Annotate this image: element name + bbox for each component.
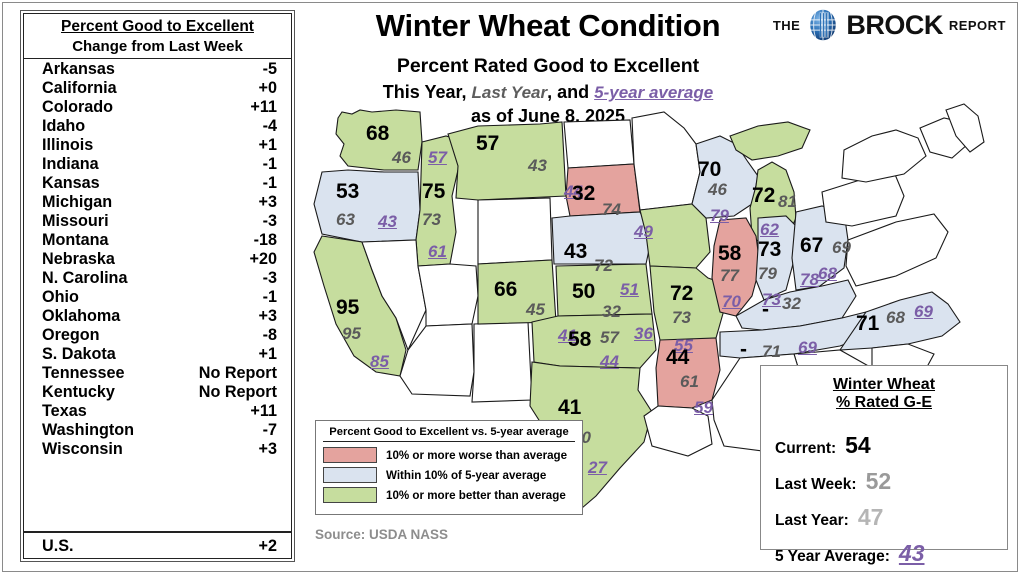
logo-the: THE [773,18,801,33]
state-shape-minnesota [632,112,700,210]
table-row-change: +1 [189,137,277,153]
table-row-state: Ohio [42,289,79,305]
table-row-state: California [42,80,117,96]
table-row-change: +1 [189,346,277,362]
table-row-state: Colorado [42,99,113,115]
table-row: Illinois+1 [24,136,291,155]
table-row-state: Indiana [42,156,99,172]
table-row: Oklahoma+3 [24,307,291,326]
table-row-change: +11 [189,403,277,419]
legend-label: Within 10% of 5-year average [386,469,546,482]
table-row: Missouri-3 [24,212,291,231]
table-row-change: +3 [189,441,277,457]
state-shape-new-mexico [472,322,532,402]
map-legend: Percent Good to Excellent vs. 5-year ave… [315,420,583,515]
table-row-state: Michigan [42,194,112,210]
map-legend-item: Within 10% of 5-year average [323,467,575,483]
table-row-change: No Report [189,384,277,400]
table-row-change: -1 [189,156,277,172]
series-this-year: This Year, [383,82,472,102]
legend-swatch [323,467,377,483]
table-row-change: +20 [189,251,277,267]
summary-label: Last Week: [775,476,857,494]
state-change-table: Percent Good to Excellent Change from La… [20,10,295,562]
state-shape-kansas [556,264,652,316]
table-row: N. Carolina-3 [24,269,291,288]
table-body: Arkansas-5California+0Colorado+11Idaho-4… [24,59,291,531]
table-row-change: +3 [189,308,277,324]
summary-row: Current:54 [775,432,993,459]
summary-row: 5 Year Average:43 [775,540,993,567]
table-row: Wisconsin+3 [24,440,291,459]
state-shape-illinois [712,218,760,316]
table-row-state: Montana [42,232,109,248]
summary-value: 47 [858,504,884,531]
series-conjunction: , and [547,82,594,102]
state-shape-nebraska [552,212,652,264]
table-row: TennesseeNo Report [24,364,291,383]
table-row-change: -7 [189,422,277,438]
table-row-change: -1 [189,175,277,191]
table-row-change: +11 [189,99,277,115]
table-row: Oregon-8 [24,326,291,345]
state-shape-michigan-upper-peninsula [730,122,810,160]
legend-swatch [323,487,377,503]
table-row-state: Washington [42,422,134,438]
page-title: Winter Wheat Condition [322,8,774,44]
summary-row: Last Year:47 [775,504,993,531]
logo-report: REPORT [949,18,1006,33]
state-shape-wyoming [478,198,552,264]
table-row: Nebraska+20 [24,250,291,269]
summary-title-line2: % Rated G-E [775,394,993,412]
table-row-state: Wisconsin [42,441,123,457]
state-shape-oklahoma [532,314,656,368]
table-row: Idaho-4 [24,117,291,136]
state-shape-arkansas [656,338,720,408]
state-shape-montana [448,122,566,200]
table-row-change: -4 [189,118,277,134]
table-row: Texas+11 [24,402,291,421]
table-row: California+0 [24,79,291,98]
summary-label: 5 Year Average: [775,548,890,566]
table-row: Michigan+3 [24,193,291,212]
table-footer: U.S. +2 [24,531,291,558]
page-subtitle: Percent Rated Good to Excellent [322,55,774,78]
globe-icon [806,8,840,42]
summary-title-line1: Winter Wheat [775,376,993,394]
state-shape-washington [336,110,422,170]
table-row: Washington-7 [24,421,291,440]
table-row-change: +0 [189,80,277,96]
table-row-change: -18 [189,232,277,248]
legend-swatch [323,447,377,463]
table-row-state: Nebraska [42,251,115,267]
table-row-state: Arkansas [42,61,115,77]
summary-box: Winter Wheat % Rated G-E Current:54Last … [760,365,1008,550]
summary-value: 54 [845,432,871,459]
map-legend-items: 10% or more worse than averageWithin 10%… [323,447,575,503]
table-row-change: -5 [189,61,277,77]
table-row-change: -3 [189,213,277,229]
table-row: S. Dakota+1 [24,345,291,364]
summary-label: Current: [775,440,836,458]
table-row-total: U.S. +2 [24,533,291,558]
table-row-change: -8 [189,327,277,343]
table-row-state: Idaho [42,118,85,134]
state-shape-north-dakota [564,120,634,168]
table-row-state: Missouri [42,213,109,229]
table-row-change: -3 [189,270,277,286]
source-note: Source: USDA NASS [315,527,448,542]
state-shape-indiana [756,216,796,300]
state-shape-new-york [842,130,926,182]
table-title: Percent Good to Excellent [24,14,291,37]
logo-brand: BROCK [846,10,943,41]
state-shape-south-dakota [566,164,640,216]
table-row-state: Tennessee [42,365,124,381]
map-legend-item: 10% or more better than average [323,487,575,503]
table-row: Kansas-1 [24,174,291,193]
table-row-state: Kentucky [42,384,115,400]
summary-label: Last Year: [775,512,849,530]
table-row-change: +3 [189,194,277,210]
state-shape-iowa [640,204,710,268]
table-row: Montana-18 [24,231,291,250]
table-row-change: -1 [189,289,277,305]
table-row-state: Texas [42,403,87,419]
summary-rows: Current:54Last Week:52Last Year:475 Year… [775,432,993,567]
table-row-state: S. Dakota [42,346,116,362]
table-row-state: Oregon [42,327,100,343]
table-row-change: No Report [189,365,277,381]
state-shape-oregon [314,170,420,242]
table-row: KentuckyNo Report [24,383,291,402]
table-subtitle: Change from Last Week [24,37,291,59]
total-value: +2 [189,538,277,554]
legend-label: 10% or more better than average [386,489,566,502]
state-shape-virginia [846,214,948,286]
table-row-state: Illinois [42,137,93,153]
state-shape-louisiana [644,406,712,456]
total-label: U.S. [42,538,73,554]
summary-value: 52 [866,468,892,495]
brock-report-logo: THE BROCK REPORT [773,8,1006,42]
infographic-root: Percent Good to Excellent Change from La… [0,0,1024,576]
table-row: Colorado+11 [24,98,291,117]
map-legend-title: Percent Good to Excellent vs. 5-year ave… [323,426,575,442]
state-shape-idaho [416,136,460,266]
summary-value: 43 [899,540,925,567]
table-row-state: Oklahoma [42,308,120,324]
state-shape-utah [418,264,478,326]
table-row-state: N. Carolina [42,270,127,286]
table-row: Indiana-1 [24,155,291,174]
state-shape-colorado [478,260,556,324]
legend-label: 10% or more worse than average [386,449,567,462]
table-row-state: Kansas [42,175,100,191]
table-row: Arkansas-5 [24,60,291,79]
map-legend-item: 10% or more worse than average [323,447,575,463]
table-row: Ohio-1 [24,288,291,307]
summary-row: Last Week:52 [775,468,993,495]
